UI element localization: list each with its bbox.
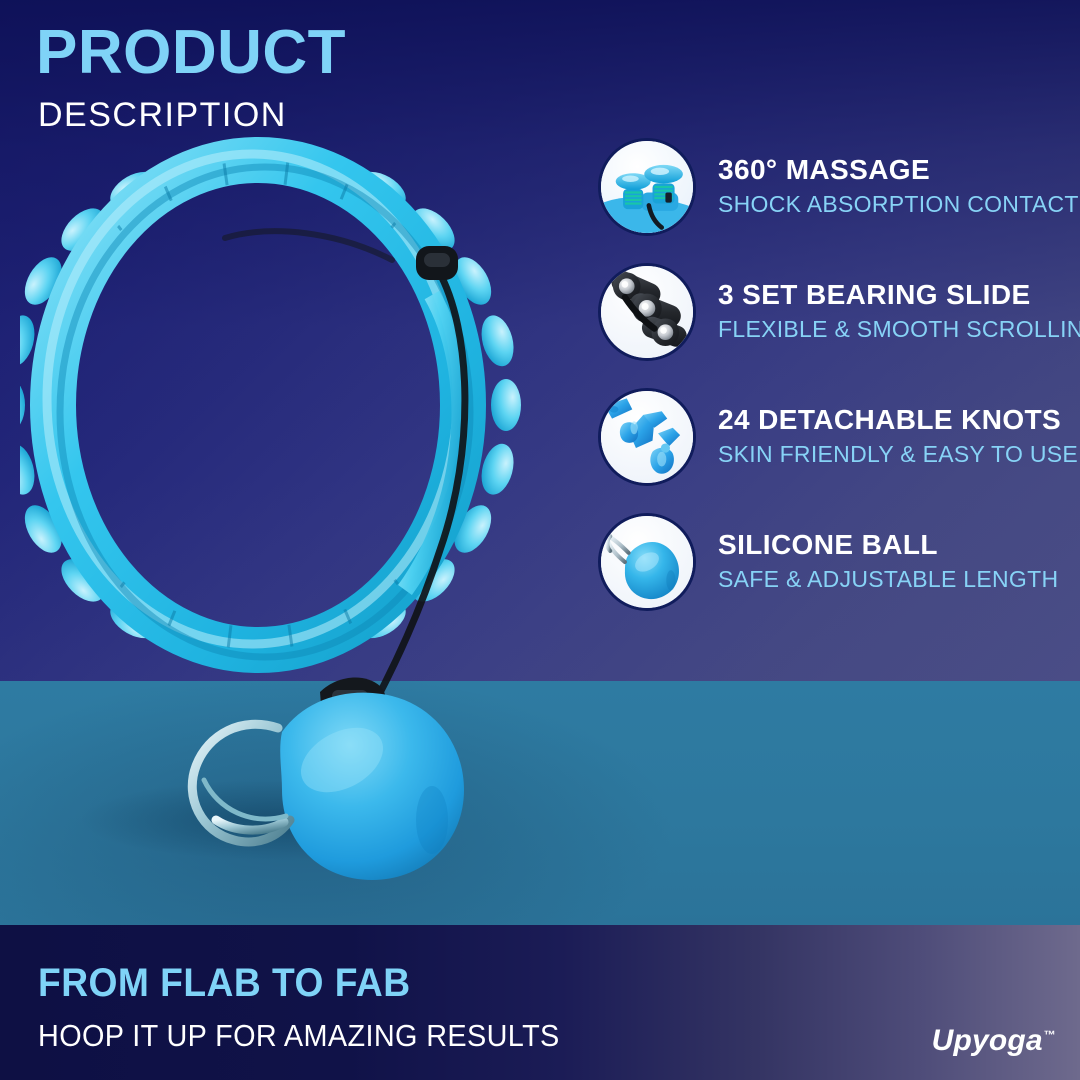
feature-item-detachable-knots: 24 DETACHABLE KNOTS SKIN FRIENDLY & EASY… [598,383,1058,491]
massage-knobs-icon [598,138,696,236]
feature-subtitle: SHOCK ABSORPTION CONTACT [718,190,1079,219]
feature-text: 24 DETACHABLE KNOTS SKIN FRIENDLY & EASY… [718,405,1078,469]
feature-title: SILICONE BALL [718,530,1058,561]
bearing-wheels-icon [598,263,696,361]
feature-title: 24 DETACHABLE KNOTS [718,405,1078,436]
feature-text: 3 SET BEARING SLIDE FLEXIBLE & SMOOTH SC… [718,280,1080,344]
footer-tagline: HOOP IT UP FOR AMAZING RESULTS [38,1020,560,1051]
page-subtitle: DESCRIPTION [38,98,346,132]
trademark-symbol: ™ [1044,1028,1056,1042]
brand-logo: Upyoga™ [932,1024,1056,1058]
cord-clip-block [416,246,458,280]
product-description-poster: PRODUCT DESCRIPTION [0,0,1080,1080]
footer-text-block: FROM FLAB TO FAB HOOP IT UP FOR AMAZING … [38,963,599,1051]
detachable-knots-icon [598,388,696,486]
product-image-hula-hoop [20,120,560,880]
feature-subtitle: SKIN FRIENDLY & EASY TO USE [718,440,1078,469]
feature-subtitle: SAFE & ADJUSTABLE LENGTH [718,565,1058,594]
page-title: PRODUCT [36,22,346,84]
feature-title: 360° MASSAGE [718,155,1079,186]
hoop-ring [20,139,524,671]
feature-item-360-massage: 360° MASSAGE SHOCK ABSORPTION CONTACT [598,133,1058,241]
header: PRODUCT DESCRIPTION [36,22,346,132]
feature-subtitle: FLEXIBLE & SMOOTH SCROLLING [718,315,1080,344]
silicone-ball [280,693,464,880]
feature-text: 360° MASSAGE SHOCK ABSORPTION CONTACT [718,155,1079,219]
silicone-ball-icon [598,513,696,611]
feature-title: 3 SET BEARING SLIDE [718,280,1080,311]
feature-list: 360° MASSAGE SHOCK ABSORPTION CONTACT [598,133,1058,633]
feature-item-bearing-slide: 3 SET BEARING SLIDE FLEXIBLE & SMOOTH SC… [598,258,1058,366]
footer-headline: FROM FLAB TO FAB [38,963,560,1003]
feature-text: SILICONE BALL SAFE & ADJUSTABLE LENGTH [718,530,1058,594]
brand-name: Upyoga [932,1024,1043,1057]
feature-item-silicone-ball: SILICONE BALL SAFE & ADJUSTABLE LENGTH [598,508,1058,616]
